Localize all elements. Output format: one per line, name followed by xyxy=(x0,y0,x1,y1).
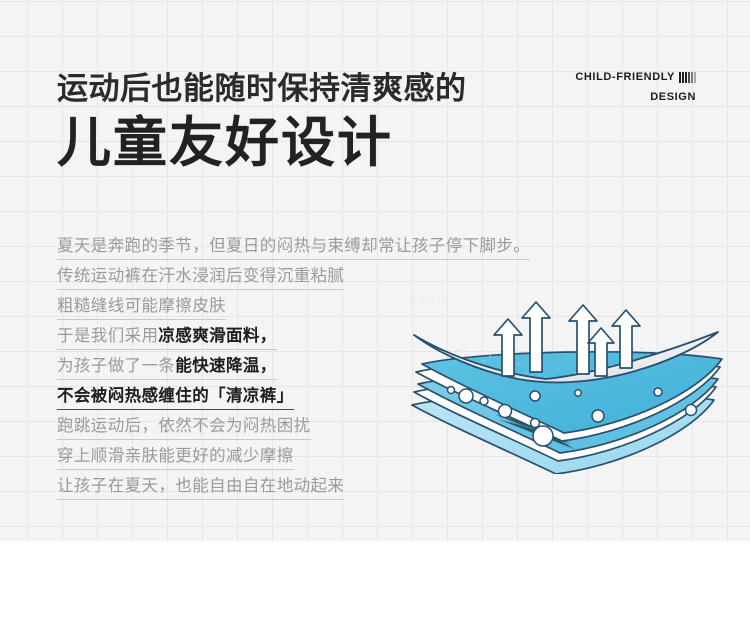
bubble xyxy=(530,391,540,401)
copy-line: 夏天是奔跑的季节，但夏日的闷热与束缚却常让孩子停下脚步。 xyxy=(57,236,530,260)
copy-text-normal: 为孩子做了一条 xyxy=(57,357,175,375)
bubble xyxy=(686,405,697,416)
bubble xyxy=(480,397,488,405)
bubble xyxy=(499,405,512,418)
copy-text-normal: 于是我们采用 xyxy=(57,327,158,345)
promo-page: 品牌水印 运动后也能随时保持清爽感的 儿童友好设计 CHILD-FRIENDLY… xyxy=(0,0,750,629)
badge-row-primary: CHILD-FRIENDLY xyxy=(575,70,696,85)
headline-subtitle: 运动后也能随时保持清爽感的 xyxy=(57,70,527,108)
badge-label-primary: CHILD-FRIENDLY xyxy=(575,70,675,85)
bubble xyxy=(531,419,540,428)
badge-row-secondary: DESIGN xyxy=(575,87,696,105)
fabric-layers-illustration xyxy=(398,288,734,474)
copy-line-emphasized: 不会被闷热感缠住的「清凉裤」 xyxy=(57,386,294,410)
copy-line: 穿上顺滑亲肤能更好的减少摩擦 xyxy=(57,446,294,470)
badge-label-secondary: DESIGN xyxy=(650,91,696,103)
copy-line: 粗糙缝线可能摩擦皮肤 xyxy=(57,296,226,320)
page-title: 儿童友好设计 xyxy=(57,110,527,176)
headline-block: 运动后也能随时保持清爽感的 儿童友好设计 xyxy=(57,70,527,176)
copy-text-highlight: 能快速降温， xyxy=(175,357,276,375)
bubble xyxy=(448,387,455,394)
barcode-bars-icon xyxy=(679,72,696,83)
copy-line: 让孩子在夏天，也能自由自在地动起来 xyxy=(57,476,344,500)
bubble xyxy=(533,426,553,446)
copy-text-highlight: 凉感爽滑面料， xyxy=(158,327,276,345)
copy-line: 传统运动裤在汗水浸润后变得沉重粘腻 xyxy=(57,266,344,290)
copy-line: 跑跳运动后，依然不会为闷热困扰 xyxy=(57,416,311,440)
copy-line: 于是我们采用凉感爽滑面料， xyxy=(57,326,277,350)
child-friendly-badge: CHILD-FRIENDLY DESIGN xyxy=(575,70,696,105)
bubble xyxy=(459,389,473,403)
bubble xyxy=(575,390,581,396)
copy-line: 为孩子做了一条能快速降温， xyxy=(57,356,277,380)
bubble xyxy=(592,410,604,422)
bubble xyxy=(654,388,662,396)
